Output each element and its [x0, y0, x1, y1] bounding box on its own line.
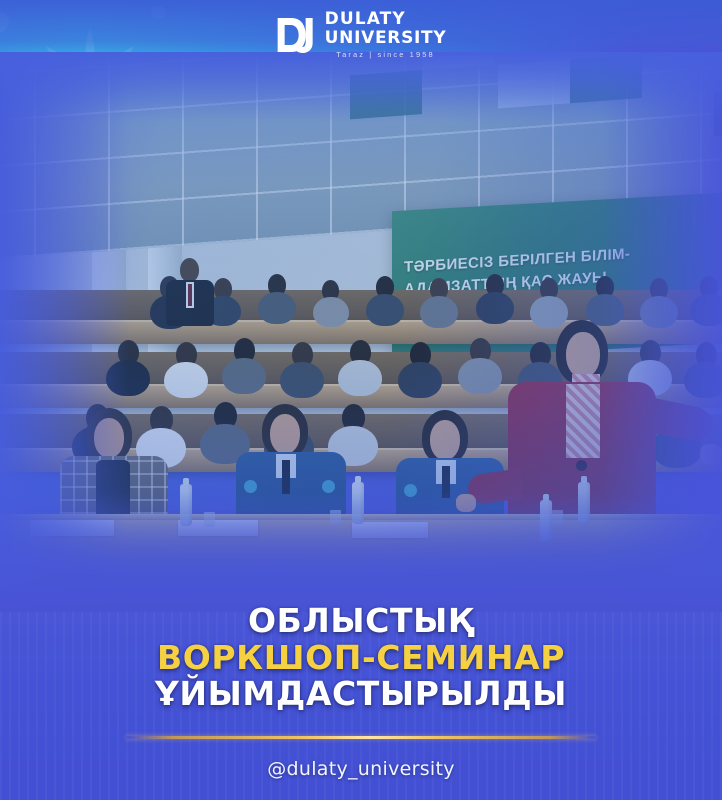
dulaty-university-logo: DULATY UNIVERSITY Taraz | since 1958 [276, 11, 447, 59]
photo-fade-bottom [0, 492, 722, 612]
logo-tagline: Taraz | since 1958 [325, 51, 447, 59]
logo-wordmark: DULATY UNIVERSITY Taraz | since 1958 [325, 11, 447, 59]
dj-monogram-icon [276, 16, 316, 54]
gold-divider [126, 736, 596, 739]
logo-line-1: DULATY [325, 11, 447, 28]
photo-fade-top [0, 52, 722, 122]
poster-root: ТӘРБИЕСІЗ БЕРІЛГЕН БІЛІМ- АДАМЗАТТЫҢ ҚАС… [0, 0, 722, 800]
title-line-2-highlight: ВОРКШОП-СЕМИНАР [0, 641, 722, 675]
event-photo: ТӘРБИЕСІЗ БЕРІЛГЕН БІЛІМ- АДАМЗАТТЫҢ ҚАС… [0, 52, 722, 612]
poster-title: ОБЛЫСТЫҚ ВОРКШОП-СЕМИНАР ҰЙЫМДАСТЫРЫЛДЫ [0, 604, 722, 711]
title-line-3: ҰЙЫМДАСТЫРЫЛДЫ [0, 677, 722, 711]
title-line-1: ОБЛЫСТЫҚ [0, 604, 722, 638]
social-handle: @dulaty_university [0, 758, 722, 780]
logo-line-2: UNIVERSITY [325, 30, 447, 47]
